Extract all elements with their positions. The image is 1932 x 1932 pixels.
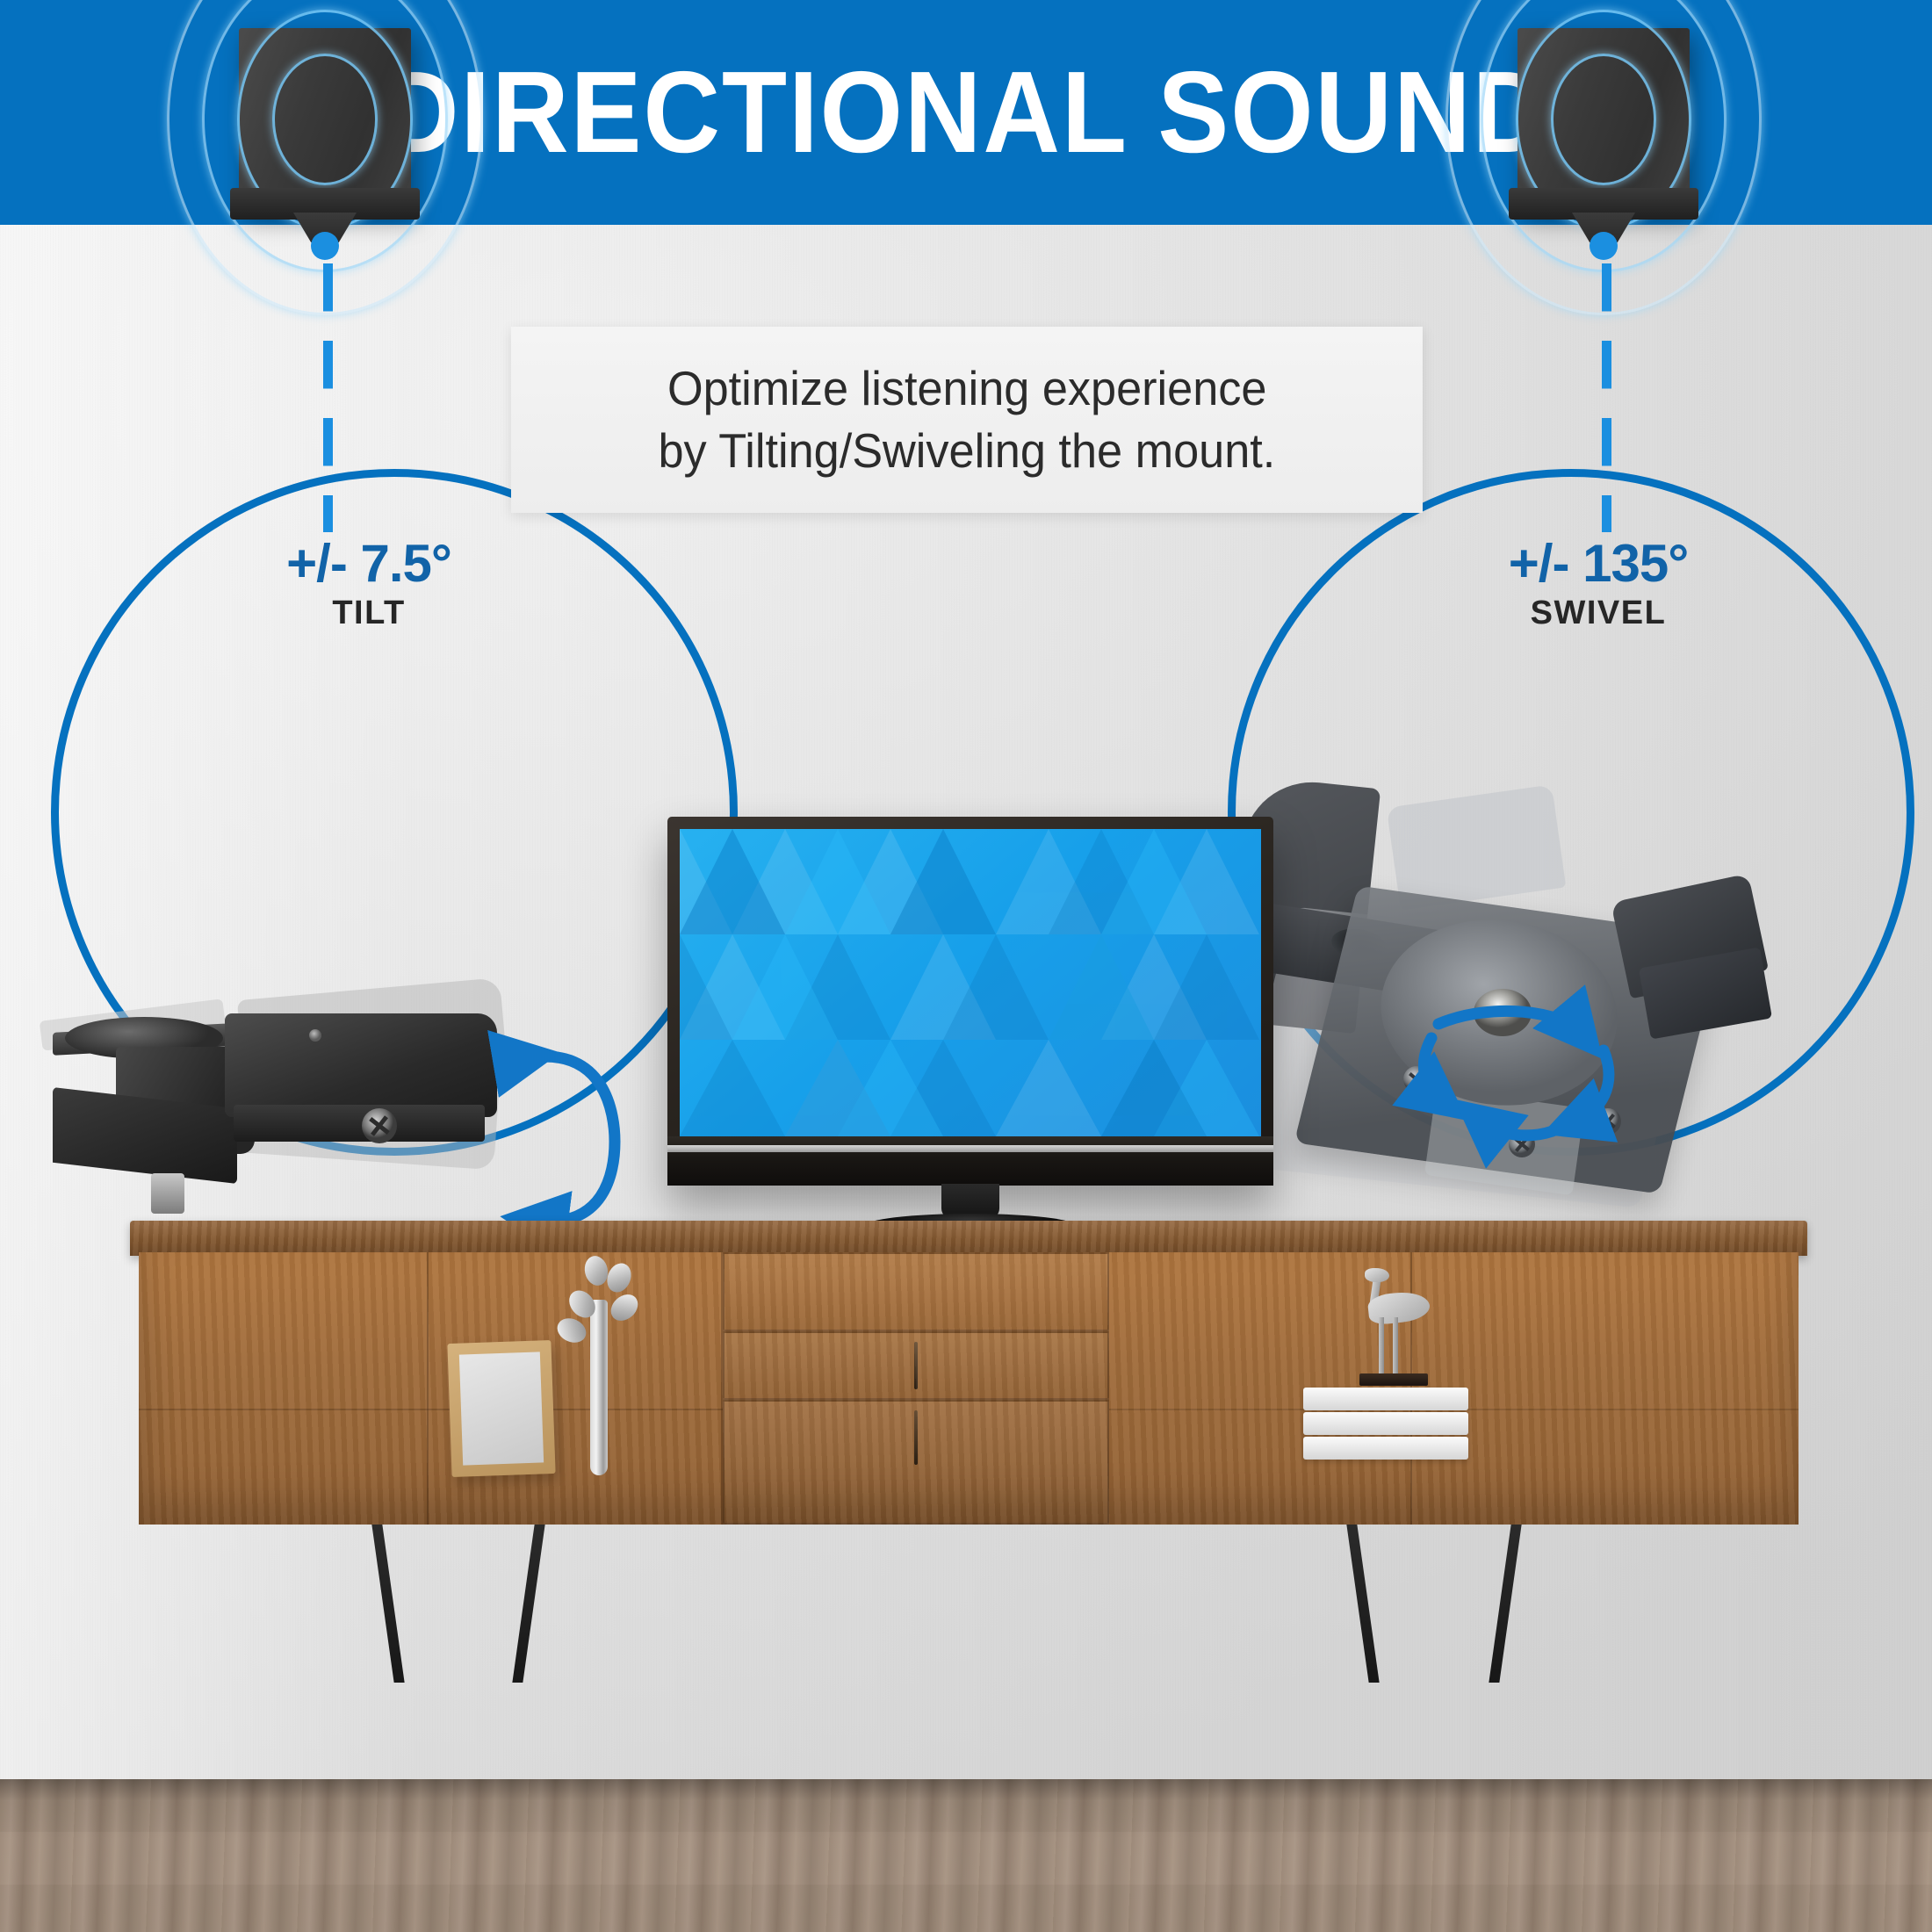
tv-chin — [667, 1136, 1273, 1186]
silver-sculpture — [559, 1247, 638, 1475]
credenza-door[interactable] — [1412, 1252, 1799, 1525]
photo-frame-mat — [459, 1352, 544, 1465]
credenza-drawer[interactable] — [723, 1400, 1109, 1525]
drawer-handle[interactable] — [914, 1410, 918, 1465]
swivel-kind: SWIVEL — [1352, 595, 1844, 632]
tilt-adjust-screw-icon — [362, 1108, 397, 1143]
book — [1303, 1437, 1468, 1460]
tilt-kind: TILT — [123, 595, 615, 632]
credenza-door[interactable] — [139, 1252, 429, 1525]
swivel-screw-icon — [1509, 1131, 1535, 1157]
callout-label-tilt: +/- 7.5° TILT — [123, 536, 615, 632]
sculpture-bud — [553, 1314, 590, 1347]
television — [667, 817, 1273, 1186]
credenza-drawer[interactable] — [723, 1331, 1109, 1400]
instruction-line-2: by Tilting/Swiveling the mount. — [659, 420, 1276, 483]
bird-figurine — [1352, 1272, 1437, 1395]
tilt-bolt — [151, 1173, 184, 1214]
page-title: DIRECTIONAL SOUND — [381, 54, 1550, 170]
credenza-top — [130, 1221, 1807, 1256]
bird-leg — [1393, 1317, 1398, 1375]
tilt-arm-foot — [234, 1105, 485, 1142]
infographic-canvas: DIRECTIONAL SOUND — [0, 0, 1932, 1932]
credenza-body — [139, 1252, 1799, 1525]
instruction-callout-box: Optimize listening experience by Tilting… — [511, 327, 1423, 513]
tilt-arm-screw-icon — [309, 1029, 321, 1042]
callout-label-swivel: +/- 135° SWIVEL — [1352, 536, 1844, 632]
speaker-left — [239, 28, 411, 246]
swivel-screw-icon — [1403, 1066, 1430, 1092]
sound-wave-icon — [272, 54, 378, 185]
instruction-line-1: Optimize listening experience — [667, 357, 1267, 421]
tv-wallpaper-triangles — [680, 829, 1261, 1136]
tilt-arm — [225, 1013, 497, 1117]
sculpture-bud — [606, 1289, 644, 1326]
bird-head — [1365, 1268, 1389, 1282]
floor-background — [0, 1779, 1932, 1932]
sculpture-bud — [603, 1259, 636, 1295]
credenza-drawer[interactable] — [723, 1252, 1109, 1331]
speaker-right — [1517, 28, 1690, 246]
connector-dot-icon — [311, 232, 339, 260]
drawer-handle[interactable] — [914, 1342, 918, 1389]
swivel-screw-icon — [1595, 1108, 1621, 1135]
tilt-degrees: +/- 7.5° — [123, 536, 615, 591]
tv-screen — [680, 829, 1261, 1136]
book — [1303, 1412, 1468, 1435]
sound-wave-icon — [1551, 54, 1656, 185]
sculpture-stem — [590, 1300, 608, 1475]
book-stack — [1303, 1388, 1468, 1479]
swivel-pivot-hub — [1474, 989, 1532, 1036]
tv-chin-strip — [667, 1145, 1273, 1152]
swivel-degrees: +/- 135° — [1352, 536, 1844, 591]
connector-dot-icon — [1590, 232, 1618, 260]
bird-leg — [1379, 1317, 1384, 1375]
bird-base — [1359, 1373, 1428, 1386]
credenza — [130, 1221, 1807, 1572]
photo-frame — [447, 1340, 555, 1477]
